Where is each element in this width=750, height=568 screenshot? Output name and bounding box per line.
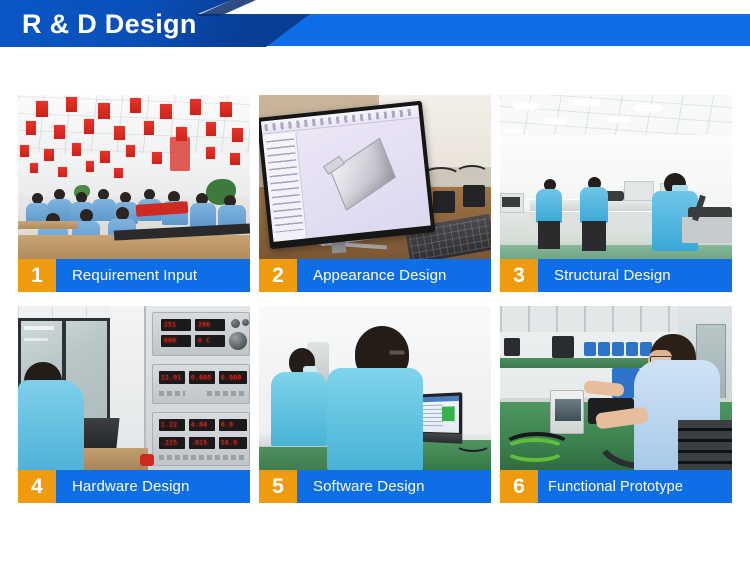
page-header: R & D Design — [0, 0, 750, 58]
card-label[interactable]: 3 Structural Design — [500, 259, 732, 292]
process-card[interactable]: 3 Structural Design — [500, 95, 732, 292]
process-card[interactable]: 2 Appearance Design — [259, 95, 491, 292]
photo-functional-prototype — [500, 306, 732, 470]
photo-hardware-design: 251 206 000 0 C 12.01 0.005 0.000 1.22 — [18, 306, 250, 470]
card-label-text: Functional Prototype — [538, 470, 732, 503]
card-label[interactable]: 5 Software Design — [259, 470, 491, 503]
instrument-rack: 251 206 000 0 C 12.01 0.005 0.000 1.22 — [144, 306, 250, 470]
page-title: R & D Design — [22, 7, 197, 41]
prototype-device — [550, 390, 584, 434]
process-card-grid: 1 Requirement Input — [18, 95, 732, 503]
card-label-text: Structural Design — [538, 259, 732, 292]
header-accent-bar — [262, 14, 750, 46]
card-label-text: Requirement Input — [56, 259, 250, 292]
monitor — [259, 101, 435, 250]
card-label[interactable]: 6 Functional Prototype — [500, 470, 732, 503]
card-number: 5 — [259, 470, 297, 503]
card-label[interactable]: 1 Requirement Input — [18, 259, 250, 292]
process-card[interactable]: 5 Software Design — [259, 306, 491, 503]
process-card[interactable]: 251 206 000 0 C 12.01 0.005 0.000 1.22 — [18, 306, 250, 503]
card-number: 1 — [18, 259, 56, 292]
card-number: 3 — [500, 259, 538, 292]
card-label[interactable]: 2 Appearance Design — [259, 259, 491, 292]
photo-structural-design — [500, 95, 732, 259]
card-label-text: Appearance Design — [297, 259, 491, 292]
process-card[interactable]: 6 Functional Prototype — [500, 306, 732, 503]
card-number: 2 — [259, 259, 297, 292]
card-number: 4 — [18, 470, 56, 503]
card-label-text: Software Design — [297, 470, 491, 503]
photo-appearance-design — [259, 95, 491, 259]
card-label-text: Hardware Design — [56, 470, 250, 503]
card-number: 6 — [500, 470, 538, 503]
photo-requirement-input — [18, 95, 250, 259]
photo-software-design — [259, 306, 491, 470]
process-card[interactable]: 1 Requirement Input — [18, 95, 250, 292]
card-label[interactable]: 4 Hardware Design — [18, 470, 250, 503]
